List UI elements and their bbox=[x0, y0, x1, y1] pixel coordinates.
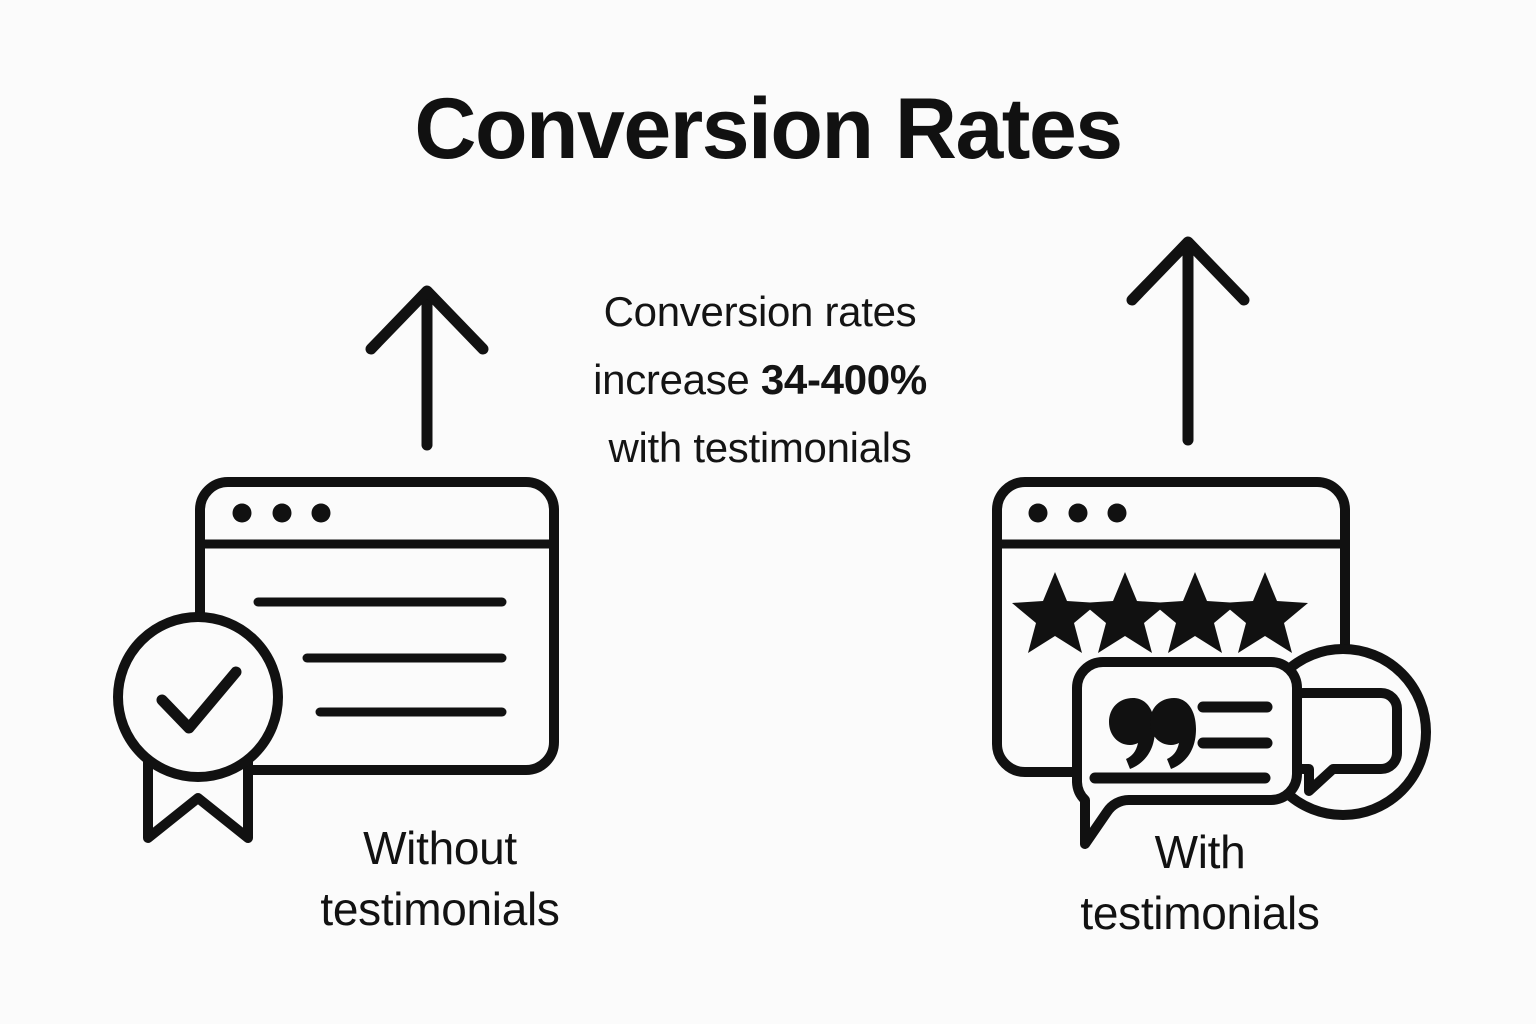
caption-line-2-prefix: increase bbox=[593, 356, 749, 403]
up-arrow-tall-icon bbox=[1115, 226, 1263, 451]
caption-line-1: Conversion rates bbox=[498, 278, 1022, 346]
window-dot-2 bbox=[273, 504, 292, 523]
label-with-line-1: With bbox=[1000, 822, 1400, 883]
label-without-line-2: testimonials bbox=[240, 879, 640, 940]
label-with-testimonials: With testimonials bbox=[1000, 822, 1400, 944]
without-testimonials-illustration bbox=[110, 460, 580, 850]
caption-line-2: increase 34-400% bbox=[498, 346, 1022, 414]
page-title: Conversion Rates bbox=[0, 86, 1536, 172]
window-dot-1 bbox=[233, 504, 252, 523]
window-dot-3 bbox=[312, 504, 331, 523]
window-dot-3 bbox=[1108, 504, 1127, 523]
label-without-testimonials: Without testimonials bbox=[240, 818, 640, 940]
verified-badge-icon bbox=[118, 617, 278, 838]
caption-highlight-value: 34-400% bbox=[761, 356, 927, 403]
window-dot-2 bbox=[1069, 504, 1088, 523]
infographic-canvas: Conversion Rates Conversion rates increa… bbox=[0, 0, 1536, 1024]
label-without-line-1: Without bbox=[240, 818, 640, 879]
with-testimonials-illustration bbox=[985, 460, 1455, 850]
up-arrow-short-icon bbox=[355, 275, 503, 455]
label-with-line-2: testimonials bbox=[1000, 883, 1400, 944]
window-dot-1 bbox=[1029, 504, 1048, 523]
caption-text: Conversion rates increase 34-400% with t… bbox=[498, 278, 1022, 482]
testimonial-bubble-icon bbox=[1077, 662, 1297, 844]
